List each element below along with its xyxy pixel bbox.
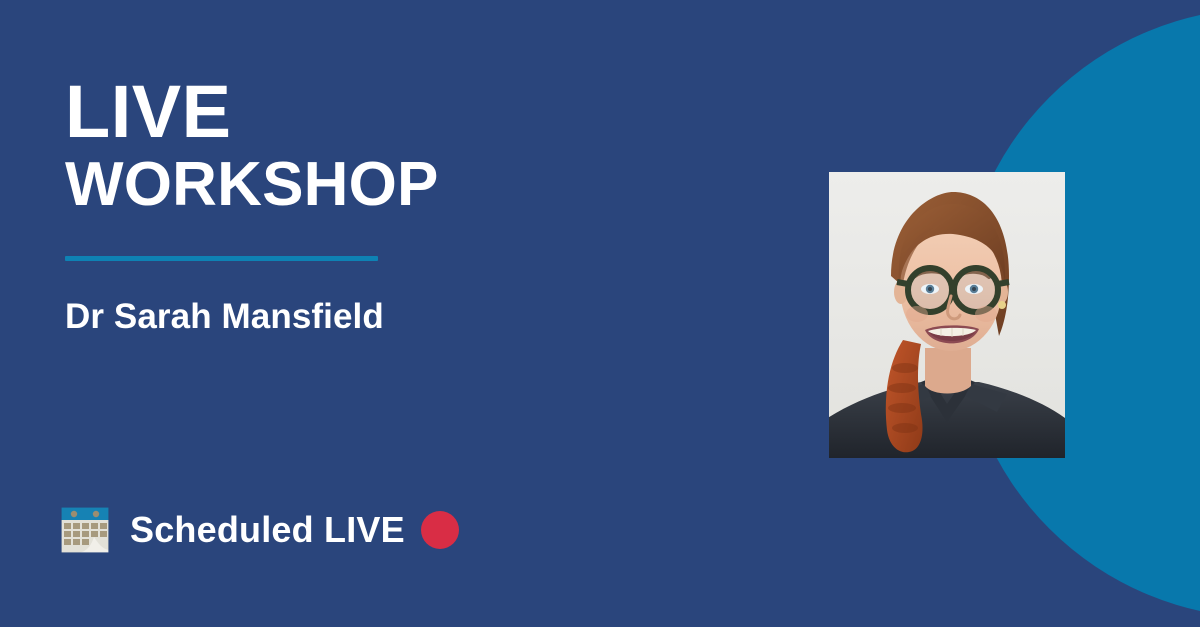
- promo-banner: LIVE WORKSHOP Dr Sarah Mansfield: [0, 0, 1200, 627]
- presenter-name: Dr Sarah Mansfield: [65, 297, 765, 337]
- headline-line-workshop: WORKSHOP: [65, 152, 765, 217]
- presenter-photo: [829, 172, 1065, 458]
- red-circle-icon: [421, 511, 459, 549]
- headline-block: LIVE WORKSHOP Dr Sarah Mansfield: [65, 78, 765, 337]
- calendar-icon: [58, 503, 112, 557]
- divider-rule: [65, 256, 378, 261]
- status-label: Scheduled LIVE: [130, 509, 405, 551]
- presenter-photo-image: [829, 172, 1065, 458]
- headline-line-live: LIVE: [65, 78, 765, 146]
- status-badge: Scheduled LIVE: [58, 503, 459, 557]
